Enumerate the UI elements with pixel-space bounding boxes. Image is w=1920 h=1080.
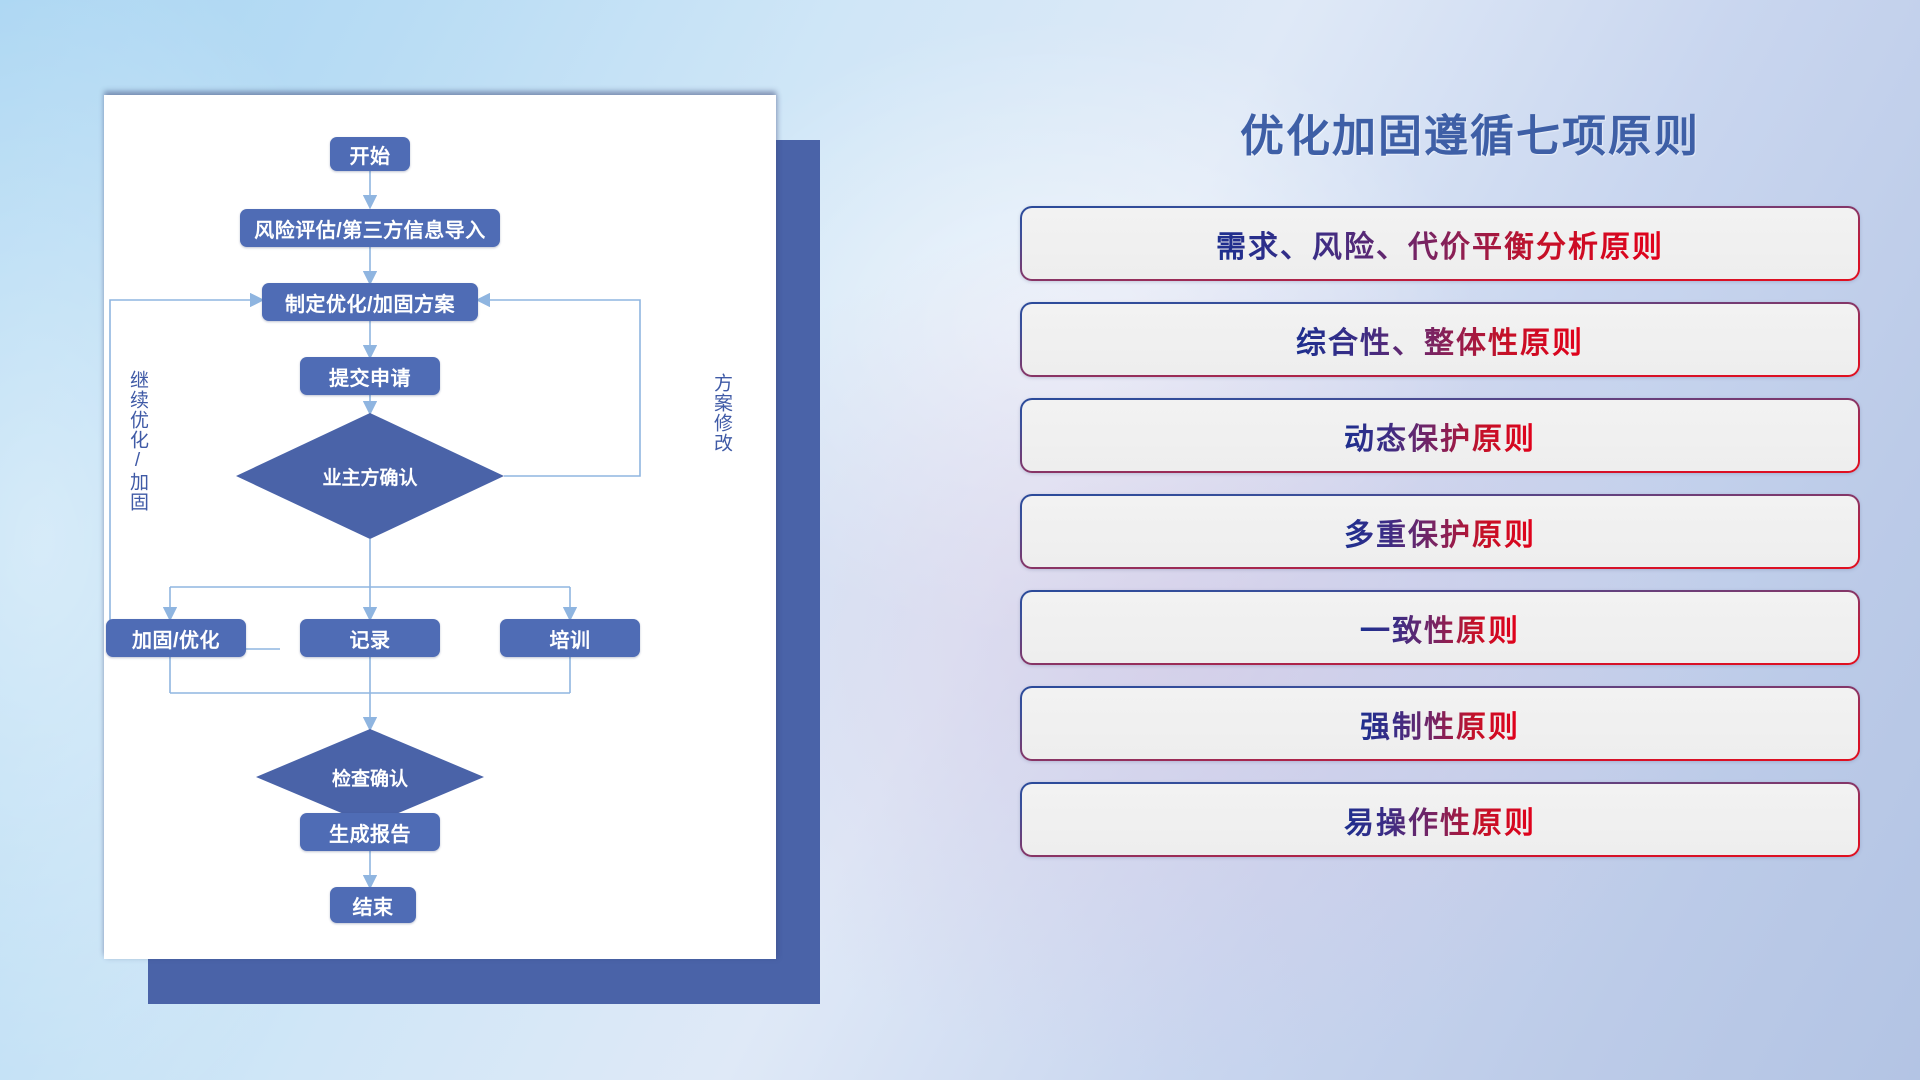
flow-node-owner-confirm[interactable]: 业主方确认 (236, 413, 504, 539)
flow-node-plan[interactable]: 制定优化/加固方案 (262, 283, 478, 321)
flow-node-label: 结束 (353, 891, 394, 920)
principle-card[interactable]: 易操作性原则 (1020, 782, 1860, 857)
flow-node-reinforce[interactable]: 加固/优化 (106, 619, 246, 657)
principle-label: 强制性原则 (1360, 702, 1520, 746)
flow-node-label: 检查确认 (332, 764, 408, 791)
flow-node-label: 业主方确认 (322, 463, 417, 490)
principle-card[interactable]: 多重保护原则 (1020, 494, 1860, 569)
principle-label: 易操作性原则 (1344, 798, 1536, 842)
principle-label: 动态保护原则 (1344, 414, 1536, 458)
flow-node-submit-application[interactable]: 提交申请 (300, 357, 440, 395)
flow-node-risk-assessment[interactable]: 风险评估/第三方信息导入 (240, 209, 500, 247)
flow-node-label: 提交申请 (329, 362, 411, 391)
flow-node-label: 风险评估/第三方信息导入 (254, 214, 486, 243)
flow-edge-label-right: 方案修改 (712, 373, 731, 453)
flow-node-label: 加固/优化 (132, 624, 220, 653)
principles-list: 需求、风险、代价平衡分析原则 综合性、整体性原则 动态保护原则 多重保护原则 一… (1020, 206, 1860, 857)
flow-node-generate-report[interactable]: 生成报告 (300, 813, 440, 851)
principle-label: 需求、风险、代价平衡分析原则 (1216, 222, 1664, 266)
flow-node-training[interactable]: 培训 (500, 619, 640, 657)
principle-card[interactable]: 综合性、整体性原则 (1020, 302, 1860, 377)
principle-card[interactable]: 一致性原则 (1020, 590, 1860, 665)
flow-node-check-confirm[interactable]: 检查确认 (256, 729, 484, 825)
principle-label: 多重保护原则 (1344, 510, 1536, 554)
flow-node-label: 制定优化/加固方案 (285, 288, 455, 317)
principle-card[interactable]: 动态保护原则 (1020, 398, 1860, 473)
flow-node-label: 生成报告 (329, 818, 411, 847)
principle-label: 一致性原则 (1360, 606, 1520, 650)
principles-panel: 优化加固遵循七项原则 需求、风险、代价平衡分析原则 综合性、整体性原则 动态保护… (1020, 100, 1860, 1000)
principle-card[interactable]: 需求、风险、代价平衡分析原则 (1020, 206, 1860, 281)
principle-card[interactable]: 强制性原则 (1020, 686, 1860, 761)
flow-node-label: 开始 (350, 140, 391, 169)
principle-label: 综合性、整体性原则 (1296, 318, 1584, 362)
flow-node-label: 记录 (350, 624, 391, 653)
flow-edge-label-left: 继续优化/加固 (128, 370, 147, 512)
page-title: 优化加固遵循七项原则 (1120, 100, 1820, 164)
flowchart-card: 开始 风险评估/第三方信息导入 制定优化/加固方案 提交申请 业主方确认 加固/… (104, 95, 776, 959)
flow-node-record[interactable]: 记录 (300, 619, 440, 657)
flow-node-end[interactable]: 结束 (330, 887, 416, 923)
flow-node-label: 培训 (550, 624, 591, 653)
flow-node-start[interactable]: 开始 (330, 137, 410, 171)
